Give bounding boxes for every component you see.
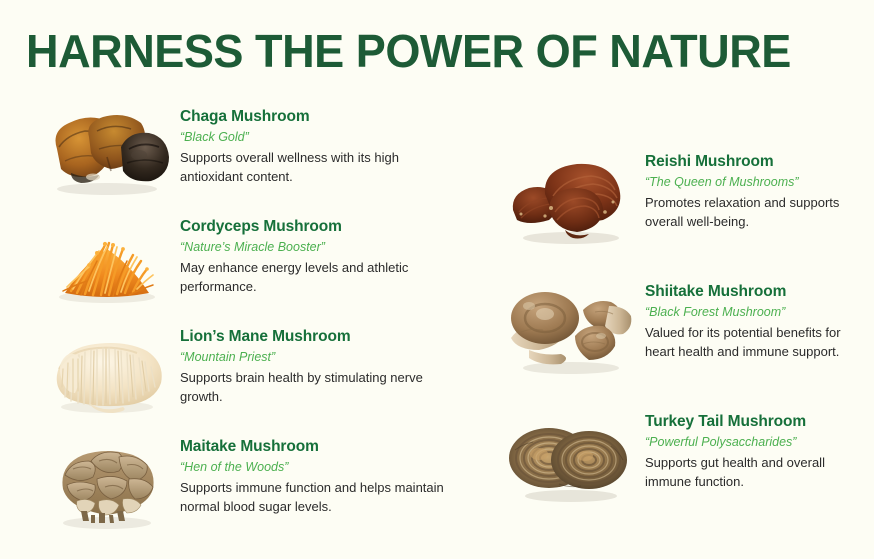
right-column: Reishi Mushroom “The Queen of Mushrooms”… <box>495 148 874 538</box>
cordyceps-mushroom-photo <box>34 213 180 309</box>
mushroom-description: Valued for its potential benefits for he… <box>645 323 870 361</box>
maitake-mushroom-photo <box>34 433 180 529</box>
mushroom-nickname: “Powerful Polysaccharides” <box>645 433 870 451</box>
mushroom-name: Cordyceps Mushroom <box>180 217 450 237</box>
mushroom-description: Supports gut health and overall immune f… <box>645 453 870 491</box>
mushroom-description: May enhance energy levels and athletic p… <box>180 258 450 296</box>
mushroom-name: Shiitake Mushroom <box>645 282 870 302</box>
mushroom-nickname: “The Queen of Mushrooms” <box>645 173 870 191</box>
list-item: Chaga Mushroom “Black Gold” Supports ove… <box>34 103 464 213</box>
mushroom-name: Maitake Mushroom <box>180 437 450 457</box>
reishi-mushroom-photo <box>495 148 645 248</box>
mushroom-description: Supports overall wellness with its high … <box>180 148 450 186</box>
list-item: Shiitake Mushroom “Black Forest Mushroom… <box>495 278 874 408</box>
list-item-text: Chaga Mushroom “Black Gold” Supports ove… <box>180 103 450 186</box>
left-column: Chaga Mushroom “Black Gold” Supports ove… <box>34 103 464 543</box>
mushroom-nickname: “Black Gold” <box>180 128 450 146</box>
list-item-text: Cordyceps Mushroom “Nature’s Miracle Boo… <box>180 213 450 296</box>
mushroom-name: Chaga Mushroom <box>180 107 450 127</box>
list-item-text: Shiitake Mushroom “Black Forest Mushroom… <box>645 278 870 361</box>
list-item: Lion’s Mane Mushroom “Mountain Priest” S… <box>34 323 464 433</box>
shiitake-mushroom-photo <box>495 278 645 378</box>
list-item: Maitake Mushroom “Hen of the Woods” Supp… <box>34 433 464 543</box>
list-item-text: Turkey Tail Mushroom “Powerful Polysacch… <box>645 408 870 491</box>
mushroom-nickname: “Nature’s Miracle Booster” <box>180 238 450 256</box>
page-title: HARNESS THE POWER OF NATURE <box>26 25 791 77</box>
list-item: Turkey Tail Mushroom “Powerful Polysacch… <box>495 408 874 538</box>
chaga-mushroom-photo <box>34 103 180 199</box>
mushroom-description: Promotes relaxation and supports overall… <box>645 193 870 231</box>
turkey-tail-mushroom-photo <box>495 408 645 508</box>
list-item: Reishi Mushroom “The Queen of Mushrooms”… <box>495 148 874 278</box>
list-item-text: Maitake Mushroom “Hen of the Woods” Supp… <box>180 433 450 516</box>
mushroom-name: Lion’s Mane Mushroom <box>180 327 450 347</box>
mushroom-name: Reishi Mushroom <box>645 152 870 172</box>
mushroom-description: Supports immune function and helps maint… <box>180 478 450 516</box>
mushroom-description: Supports brain health by stimulating ner… <box>180 368 450 406</box>
list-item: Cordyceps Mushroom “Nature’s Miracle Boo… <box>34 213 464 323</box>
mushroom-nickname: “Mountain Priest” <box>180 348 450 366</box>
mushroom-nickname: “Black Forest Mushroom” <box>645 303 870 321</box>
list-item-text: Lion’s Mane Mushroom “Mountain Priest” S… <box>180 323 450 406</box>
lions-mane-mushroom-photo <box>34 323 180 419</box>
infographic-poster: HARNESS THE POWER OF NATURE <box>0 0 874 559</box>
mushroom-name: Turkey Tail Mushroom <box>645 412 870 432</box>
mushroom-nickname: “Hen of the Woods” <box>180 458 450 476</box>
list-item-text: Reishi Mushroom “The Queen of Mushrooms”… <box>645 148 870 231</box>
